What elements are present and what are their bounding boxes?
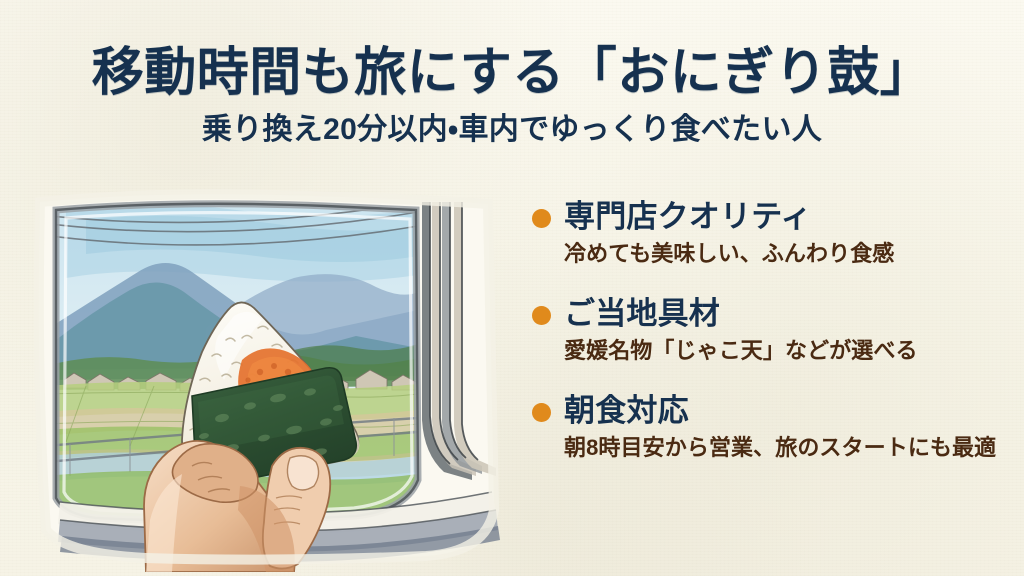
- feature-heading: 専門店クオリティ: [564, 196, 1010, 237]
- feature-heading: 朝食対応: [564, 390, 1010, 431]
- feature-description: 冷めても美味しい、ふんわり食感: [564, 238, 1010, 269]
- page-title: 移動時間も旅にする「おにぎり鼓」: [0, 42, 1024, 104]
- bullet-dot-icon: [532, 209, 551, 228]
- thumbnail: [287, 456, 318, 490]
- watercolor-scene: [26, 180, 512, 572]
- bullet-dot-icon: [532, 403, 551, 422]
- feature-list: 専門店クオリティ 冷めても美味しい、ふんわり食感 ご当地具材 愛媛名物「じゃこ天…: [524, 196, 1010, 463]
- feature-description: 朝8時目安から営業、旅のスタートにも最適: [564, 432, 1010, 463]
- bullet-dot-icon: [532, 306, 551, 325]
- title-block: 移動時間も旅にする「おにぎり鼓」 乗り換え20分以内・車内でゆっくり食べたい人: [0, 42, 1024, 148]
- list-item: 朝食対応 朝8時目安から営業、旅のスタートにも最適: [524, 390, 1010, 463]
- slide-canvas: 移動時間も旅にする「おにぎり鼓」 乗り換え20分以内・車内でゆっくり食べたい人 …: [0, 0, 1024, 576]
- list-item: 専門店クオリティ 冷めても美味しい、ふんわり食感: [524, 196, 1010, 269]
- illustration-onigiri-train-window: [26, 180, 512, 572]
- feature-description: 愛媛名物「じゃこ天」などが選べる: [564, 335, 1010, 366]
- page-subtitle: 乗り換え20分以内・車内でゆっくり食べたい人: [0, 112, 1024, 148]
- list-item: ご当地具材 愛媛名物「じゃこ天」などが選べる: [524, 293, 1010, 366]
- feature-heading: ご当地具材: [564, 293, 1010, 334]
- hand-holding-onigiri: [144, 441, 330, 572]
